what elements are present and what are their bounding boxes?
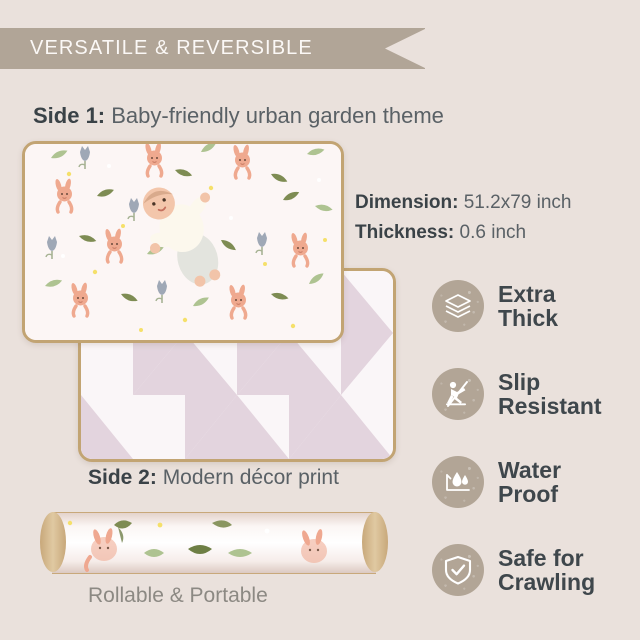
water-droplet-icon: [442, 466, 474, 498]
feature-label: Safe for Crawling: [498, 546, 595, 595]
feature-extra-thick: Extra Thick: [432, 280, 558, 332]
thickness-value: 0.6 inch: [454, 222, 526, 243]
thickness-spec: Thickness: 0.6 inch: [355, 222, 526, 244]
feature-label: Slip Resistant: [498, 370, 602, 419]
feature-icon-circle: [432, 456, 484, 508]
roll-end-cap-left: [40, 512, 66, 572]
feature-icon-circle: [432, 280, 484, 332]
side1-description: Baby-friendly urban garden theme: [105, 103, 444, 128]
side1-heading: Side 1: Baby-friendly urban garden theme: [33, 103, 444, 129]
baby-photo: [128, 176, 238, 291]
roll-caption: Rollable & Portable: [88, 584, 268, 608]
mat-rolled: [38, 512, 390, 572]
layers-icon: [443, 291, 473, 321]
side2-prefix: Side 2:: [88, 466, 157, 489]
shield-check-icon: [443, 554, 473, 586]
thickness-label: Thickness:: [355, 222, 454, 243]
feature-safe-for-crawling: Safe for Crawling: [432, 544, 595, 596]
slip-person-icon: [442, 378, 474, 410]
side1-prefix: Side 1:: [33, 103, 105, 128]
roll-end-cap-right: [362, 512, 388, 572]
infographic-stage: VERSATILE & REVERSIBLE Side 1: Baby-frie…: [0, 0, 640, 640]
side2-description: Modern décor print: [157, 466, 339, 489]
dimension-value: 51.2x79 inch: [458, 192, 571, 213]
feature-icon-circle: [432, 544, 484, 596]
roll-body: [52, 512, 376, 574]
feature-slip-resistant: Slip Resistant: [432, 368, 602, 420]
dimension-label: Dimension:: [355, 192, 458, 213]
side2-heading: Side 2: Modern décor print: [88, 466, 339, 490]
feature-label: Water Proof: [498, 458, 561, 507]
feature-water-proof: Water Proof: [432, 456, 561, 508]
feature-icon-circle: [432, 368, 484, 420]
feature-label: Extra Thick: [498, 282, 558, 331]
dimension-spec: Dimension: 51.2x79 inch: [355, 192, 571, 214]
roll-print-pattern: [52, 513, 376, 573]
banner-title: VERSATILE & REVERSIBLE: [30, 37, 313, 60]
banner-ribbon: VERSATILE & REVERSIBLE: [0, 28, 425, 69]
